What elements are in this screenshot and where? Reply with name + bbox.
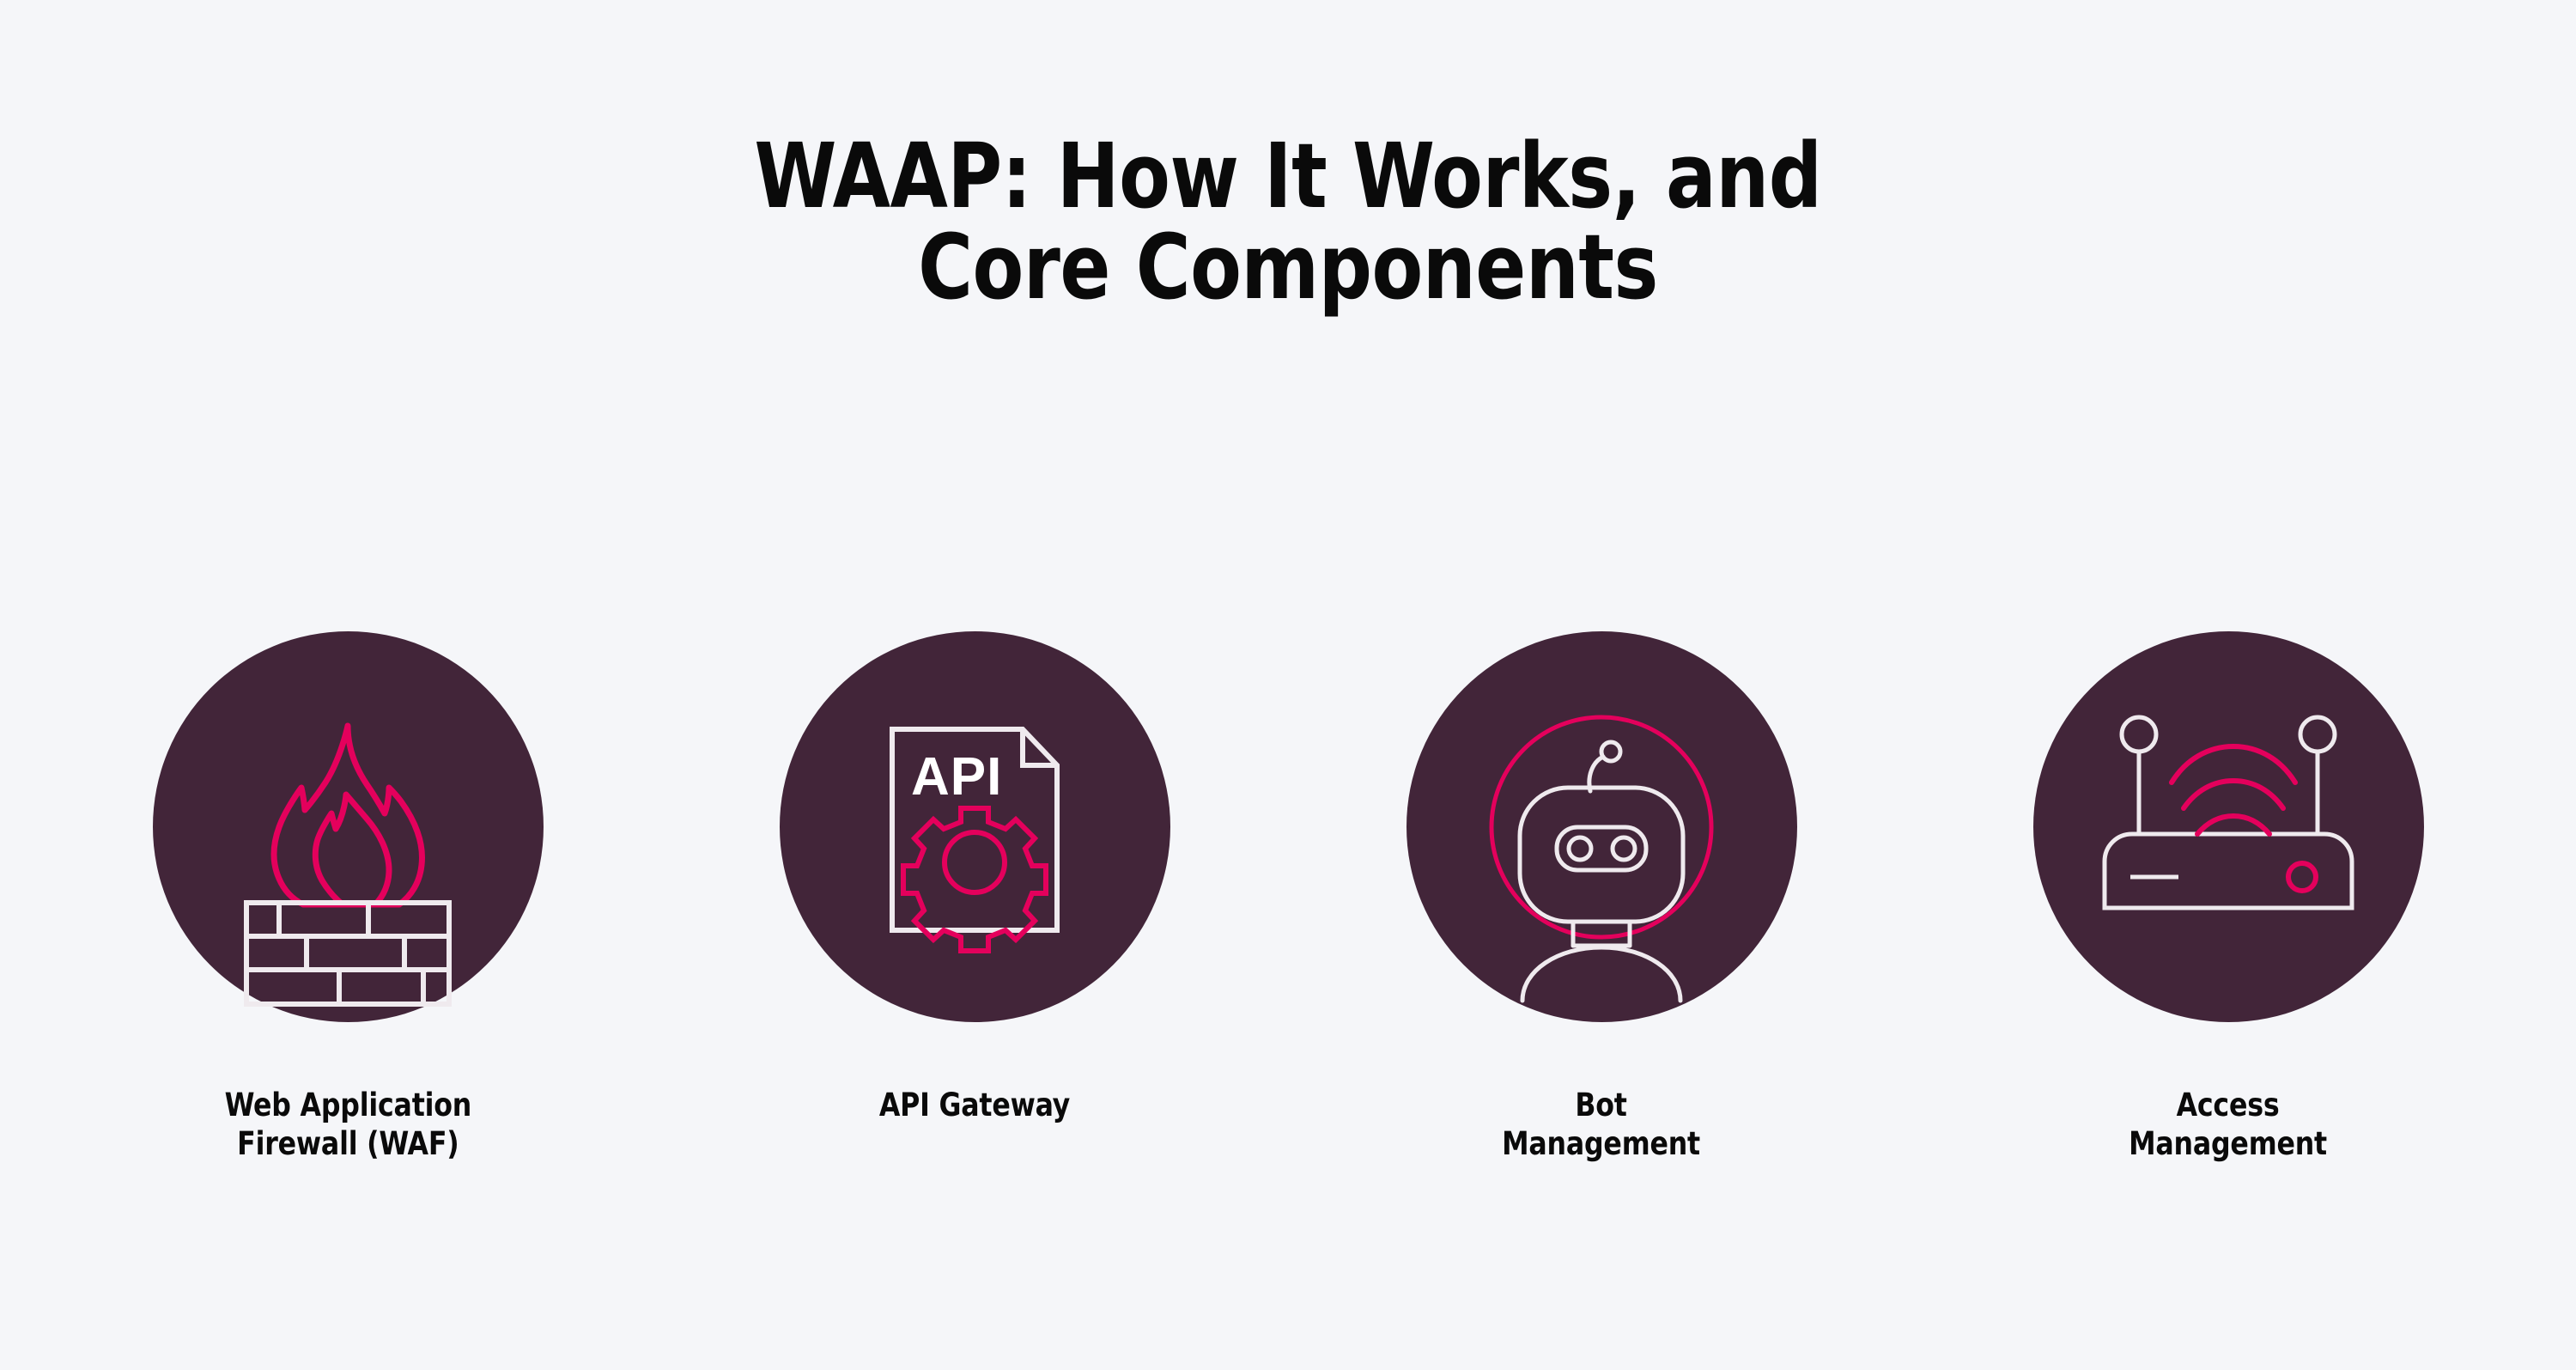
icon-circle-bot-management <box>1406 631 1797 1022</box>
robot-in-circle-icon <box>1473 698 1730 956</box>
component-label-api-gateway: API Gateway <box>879 1086 1070 1124</box>
title-line-2: Core Components <box>90 222 2486 313</box>
router-power-led <box>2288 863 2316 891</box>
slide-root: WAAP: How It Works, and Core Components <box>0 0 2576 1370</box>
component-card-access-management[interactable]: Access Management <box>2033 631 2424 1163</box>
component-label-access-management: Access Management <box>2129 1086 2328 1163</box>
component-card-row: Web Application Firewall (WAF) API <box>0 631 2576 1163</box>
component-card-api-gateway[interactable]: API API Gateway <box>780 631 1170 1124</box>
firewall-flame-icon <box>219 698 477 956</box>
component-label-bot-management: Bot Management <box>1503 1086 1701 1163</box>
title-line-1: WAAP: How It Works, and <box>90 131 2486 222</box>
icon-circle-access-management <box>2033 631 2424 1022</box>
api-document-gear-icon: API <box>846 698 1103 956</box>
page-title: WAAP: How It Works, and Core Components <box>0 131 2576 313</box>
api-icon-text: API <box>911 747 1002 807</box>
component-label-waf: Web Application Firewall (WAF) <box>224 1086 471 1163</box>
component-card-waf[interactable]: Web Application Firewall (WAF) <box>153 631 544 1163</box>
wifi-router-icon <box>2099 698 2357 956</box>
icon-circle-waf <box>153 631 544 1022</box>
component-card-bot-management[interactable]: Bot Management <box>1406 631 1797 1163</box>
icon-circle-api-gateway: API <box>780 631 1170 1022</box>
